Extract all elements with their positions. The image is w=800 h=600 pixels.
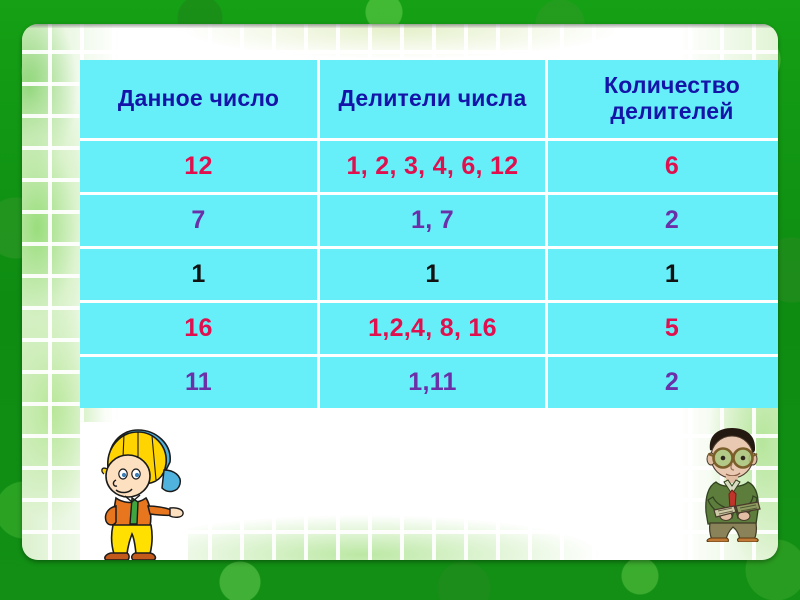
slide-canvas: Данное число Делители числа Количество д… bbox=[0, 0, 800, 600]
table-row: 7 1, 7 2 bbox=[80, 195, 778, 249]
table-row: 11 1,11 2 bbox=[80, 357, 778, 408]
cell-divisors: 1,2,4, 8, 16 bbox=[320, 303, 548, 357]
cell-divisors: 1, 7 bbox=[320, 195, 548, 249]
content-panel: Данное число Делители числа Количество д… bbox=[22, 24, 778, 560]
panel-top-edge bbox=[22, 24, 778, 28]
divisors-table: Данное число Делители числа Количество д… bbox=[80, 60, 778, 408]
cell-count: 2 bbox=[548, 195, 778, 249]
cell-count: 6 bbox=[548, 141, 778, 195]
table-row: 1 1 1 bbox=[80, 249, 778, 303]
cell-number: 11 bbox=[80, 357, 320, 408]
cell-number: 16 bbox=[80, 303, 320, 357]
znayka-character bbox=[686, 424, 778, 542]
cell-number: 1 bbox=[80, 249, 320, 303]
cell-divisors: 1, 2, 3, 4, 6, 12 bbox=[320, 141, 548, 195]
cell-number: 7 bbox=[80, 195, 320, 249]
cell-divisors: 1 bbox=[320, 249, 548, 303]
column-header-given-number: Данное число bbox=[80, 60, 320, 141]
cell-count: 1 bbox=[548, 249, 778, 303]
table-row: 16 1,2,4, 8, 16 5 bbox=[80, 303, 778, 357]
cell-count: 2 bbox=[548, 357, 778, 408]
table-header-row: Данное число Делители числа Количество д… bbox=[80, 60, 778, 141]
table-row: 12 1, 2, 3, 4, 6, 12 6 bbox=[80, 141, 778, 195]
cell-count: 5 bbox=[548, 303, 778, 357]
dunno-character bbox=[80, 422, 188, 560]
column-header-divisors: Делители числа bbox=[320, 60, 548, 141]
cell-number: 12 bbox=[80, 141, 320, 195]
column-header-divisor-count: Количество делителей bbox=[548, 60, 778, 141]
cell-divisors: 1,11 bbox=[320, 357, 548, 408]
